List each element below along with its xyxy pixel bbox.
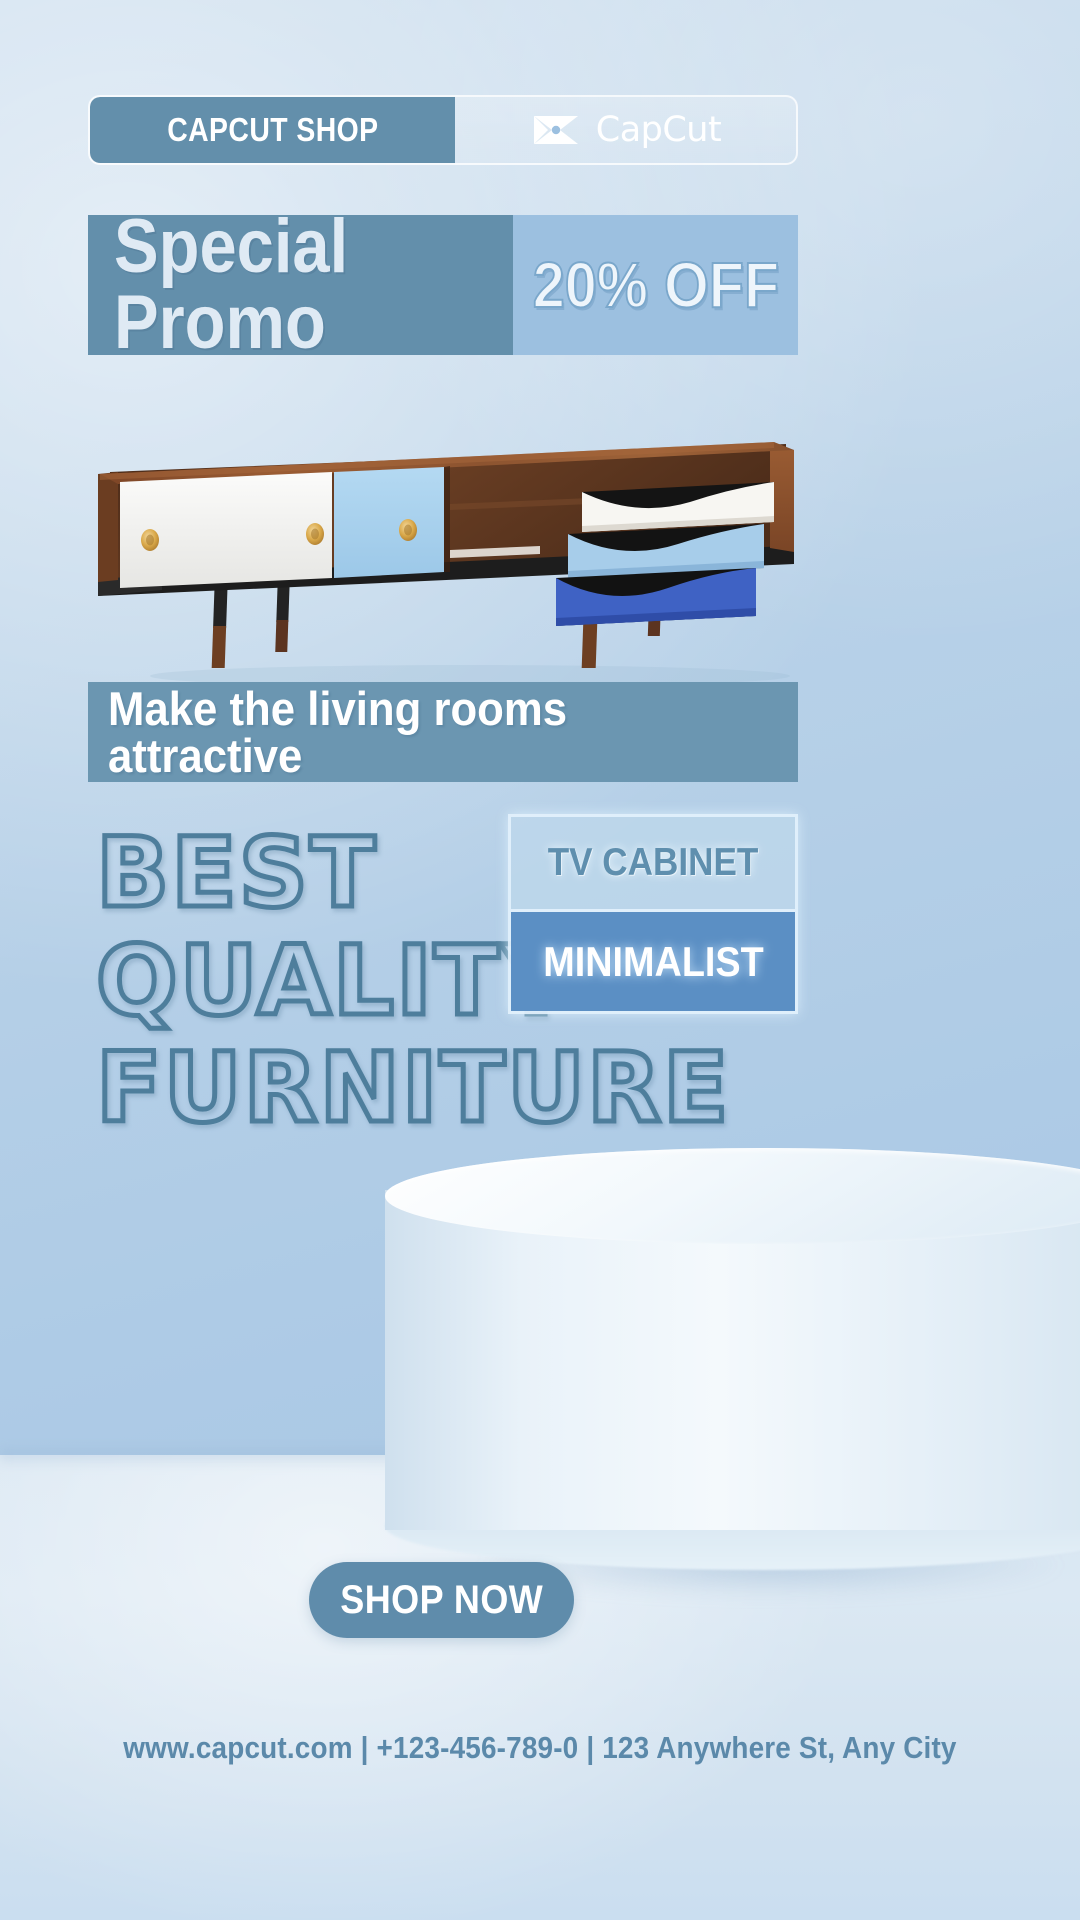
shop-name-label: CAPCUT SHOP [167, 111, 378, 149]
door-light-blue [334, 467, 444, 578]
tagline-banner: Make the living rooms attractive [88, 682, 798, 782]
category-bottom-label: MINIMALIST [543, 938, 763, 986]
category-top-label: TV CABINET [548, 841, 759, 885]
promo-banner: Special Promo 20% OFF [88, 215, 798, 355]
promo-title-panel: Special Promo [88, 215, 513, 355]
promo-discount-panel: 20% OFF [513, 215, 798, 355]
product-image-tv-cabinet [70, 430, 830, 690]
header-bar: CAPCUT SHOP CapCut [88, 95, 798, 165]
category-bottom-cell: MINIMALIST [511, 912, 795, 1011]
promo-title: Special Promo [114, 209, 465, 361]
promo-discount: 20% OFF [532, 253, 778, 317]
brand-name-label: CapCut [596, 110, 721, 150]
brand-tab[interactable]: CapCut [455, 97, 796, 163]
cabinet-left-frame [98, 472, 118, 582]
shop-now-label: SHOP NOW [340, 1578, 543, 1623]
category-top-cell: TV CABINET [511, 817, 795, 912]
capcut-bowtie-icon [530, 113, 582, 147]
headline-line-3: FURNITURE [96, 1035, 596, 1143]
footer-contact: www.capcut.com | +123-456-789-0 | 123 An… [0, 1730, 1080, 1766]
drawer-royal-blue [556, 568, 756, 626]
footer-contact-text: www.capcut.com | +123-456-789-0 | 123 An… [123, 1730, 956, 1766]
category-box: TV CABINET MINIMALIST [508, 814, 798, 1014]
shop-now-button[interactable]: SHOP NOW [309, 1562, 574, 1638]
door-white [120, 472, 332, 588]
tagline-text: Make the living rooms attractive [108, 685, 750, 779]
shop-name-tab[interactable]: CAPCUT SHOP [90, 97, 455, 163]
